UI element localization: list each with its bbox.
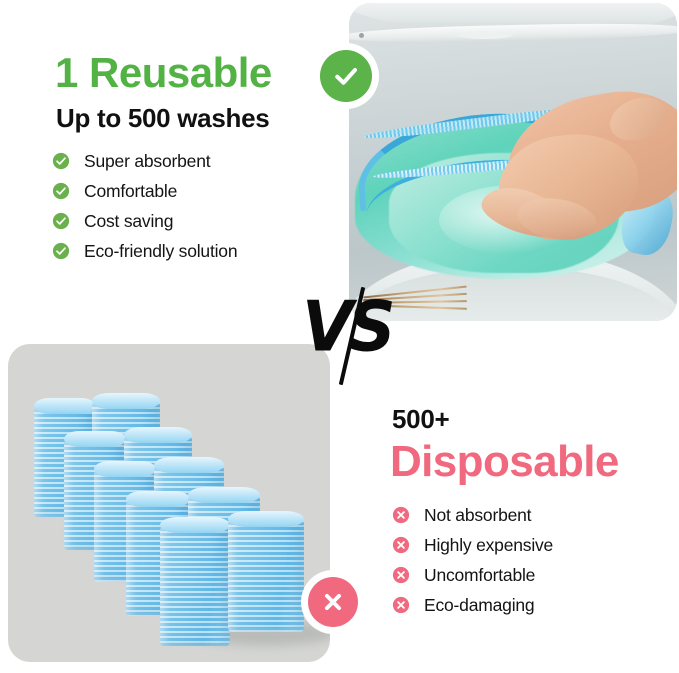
list-item-label: Eco-friendly solution (84, 241, 237, 262)
disposable-rejected-badge (308, 577, 358, 627)
list-item: Uncomfortable (392, 560, 662, 590)
x-circle-icon (392, 596, 410, 614)
washer-lid-hole (359, 33, 364, 38)
reusable-subheading: Up to 500 washes (56, 103, 269, 134)
comparison-infographic: VS 1 Reusable Up to 500 washes Super abs… (0, 0, 679, 673)
close-icon (320, 589, 346, 615)
versus-divider: VS (302, 288, 388, 384)
list-item: Not absorbent (392, 500, 662, 530)
x-circle-icon (392, 536, 410, 554)
list-item-label: Eco-damaging (424, 595, 534, 616)
list-item: Cost saving (52, 206, 332, 236)
check-circle-icon (52, 212, 70, 230)
list-item: Eco-damaging (392, 590, 662, 620)
washer-lid-notch (457, 31, 513, 39)
reusable-approved-badge (320, 50, 372, 102)
reusable-product-photo (349, 3, 677, 321)
list-item: Highly expensive (392, 530, 662, 560)
disposable-feature-list: Not absorbent Highly expensive Uncomfort… (392, 500, 662, 620)
list-item-label: Highly expensive (424, 535, 553, 556)
pad-stack (228, 520, 304, 632)
x-circle-icon (392, 566, 410, 584)
list-item-label: Uncomfortable (424, 565, 535, 586)
check-icon (331, 61, 361, 91)
x-circle-icon (392, 506, 410, 524)
list-item-label: Super absorbent (84, 151, 210, 172)
pad-stack (160, 526, 230, 646)
list-item: Comfortable (52, 176, 332, 206)
list-item: Eco-friendly solution (52, 236, 332, 266)
check-circle-icon (52, 152, 70, 170)
disposable-heading: Disposable (390, 437, 619, 487)
list-item-label: Comfortable (84, 181, 177, 202)
list-item: Super absorbent (52, 146, 332, 176)
reusable-heading: 1 Reusable (55, 50, 272, 96)
disposable-count: 500+ (392, 404, 449, 435)
disposable-product-photo (8, 344, 330, 662)
check-circle-icon (52, 182, 70, 200)
list-item-label: Not absorbent (424, 505, 531, 526)
reusable-feature-list: Super absorbent Comfortable Cost saving (52, 146, 332, 266)
check-circle-icon (52, 242, 70, 260)
list-item-label: Cost saving (84, 211, 173, 232)
